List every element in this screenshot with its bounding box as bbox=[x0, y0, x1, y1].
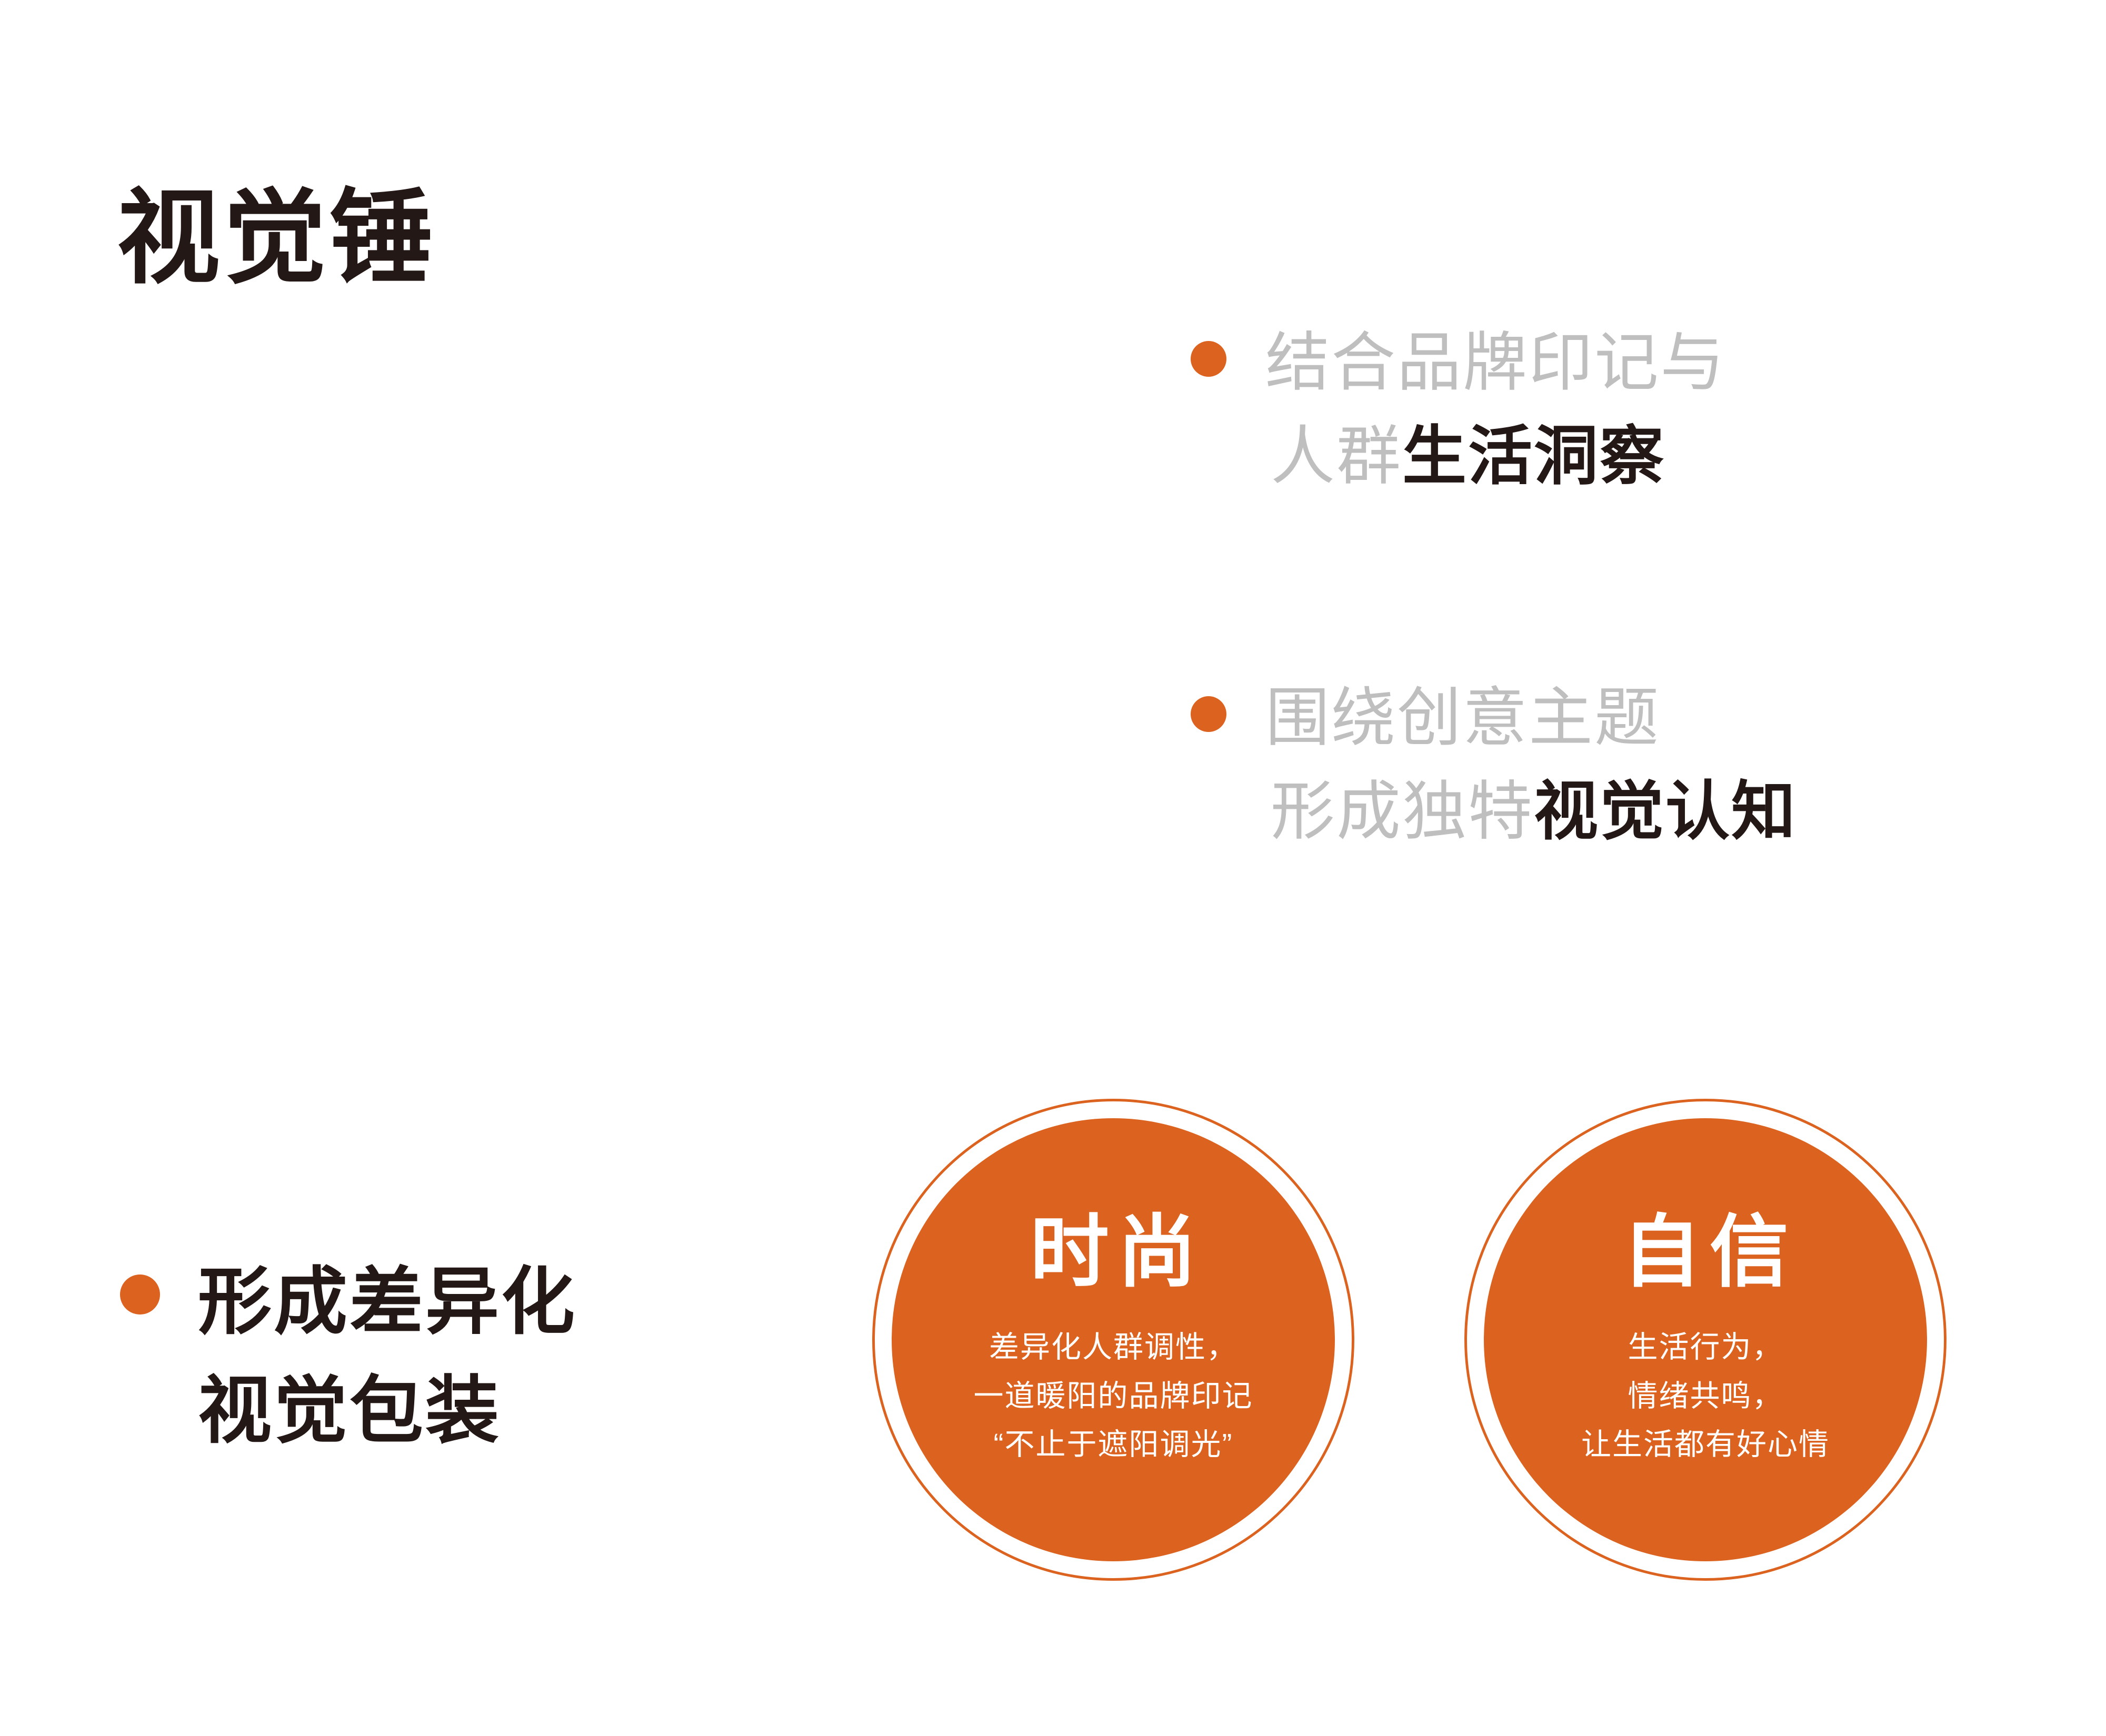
orange-dot-icon bbox=[1191, 696, 1226, 732]
circle-sub-line-3: 让生活都有好心情 bbox=[1581, 1420, 1830, 1469]
circle-title: 自信 bbox=[1614, 1211, 1797, 1294]
bullet-line-2-strong: 生活洞察 bbox=[1402, 420, 1665, 492]
circle-subtext: 生活行为， 情绪共鸣， 让生活都有好心情 bbox=[1581, 1323, 1830, 1469]
orange-dot-icon bbox=[1191, 341, 1226, 377]
bullet-left-line-1: 形成差异化 bbox=[198, 1247, 577, 1356]
bullet-item-visual-packaging: 形成差异化 视觉包装 bbox=[120, 1247, 577, 1465]
bullet-item-brand-insight: 结合品牌印记与 人群生活洞察 bbox=[1191, 316, 1726, 503]
keyword-circle-fashion: 时尚 差异化人群调性， 一道暖阳的品牌印记 “不止于遮阳调光” bbox=[872, 1099, 1354, 1581]
page-title: 视觉锤 bbox=[117, 179, 436, 297]
circle-subtext: 差异化人群调性， 一道暖阳的品牌印记 “不止于遮阳调光” bbox=[974, 1323, 1253, 1469]
circle-sub-line-2: 情绪共鸣， bbox=[1581, 1372, 1830, 1420]
bullet-item-creative-theme: 围绕创意主题 形成独特视觉认知 bbox=[1191, 671, 1797, 858]
bullet-text-block: 围绕创意主题 形成独特视觉认知 bbox=[1265, 671, 1797, 858]
circle-sub-line-3: “不止于遮阳调光” bbox=[974, 1420, 1253, 1469]
slide-canvas: 视觉锤 结合品牌印记与 人群生活洞察 围绕创意主题 形成独特视觉认知 形成差异 bbox=[0, 0, 2106, 1736]
circle-fill: 时尚 差异化人群调性， 一道暖阳的品牌印记 “不止于遮阳调光” bbox=[892, 1118, 1335, 1561]
bullet-text-block: 结合品牌印记与 人群生活洞察 bbox=[1265, 316, 1726, 503]
keyword-circle-confidence: 自信 生活行为， 情绪共鸣， 让生活都有好心情 bbox=[1464, 1099, 1947, 1581]
circle-sub-line-2: 一道暖阳的品牌印记 bbox=[974, 1372, 1253, 1420]
bullet-left-line-2: 视觉包装 bbox=[198, 1356, 577, 1465]
orange-dot-icon bbox=[120, 1275, 160, 1314]
circle-sub-line-1: 差异化人群调性， bbox=[974, 1323, 1253, 1371]
circle-sub-line-1: 生活行为， bbox=[1581, 1323, 1830, 1371]
circle-title: 时尚 bbox=[1022, 1211, 1205, 1294]
bullet-text-block: 形成差异化 视觉包装 bbox=[198, 1247, 577, 1465]
bullet-line-1: 结合品牌印记与 bbox=[1265, 327, 1726, 398]
bullet-line-1: 围绕创意主题 bbox=[1265, 682, 1660, 754]
bullet-line-2-strong: 视觉认知 bbox=[1534, 776, 1797, 847]
bullet-line-2-muted: 人群 bbox=[1271, 420, 1402, 492]
bullet-line-2-muted: 形成独特 bbox=[1271, 776, 1534, 847]
circle-fill: 自信 生活行为， 情绪共鸣， 让生活都有好心情 bbox=[1484, 1118, 1927, 1561]
